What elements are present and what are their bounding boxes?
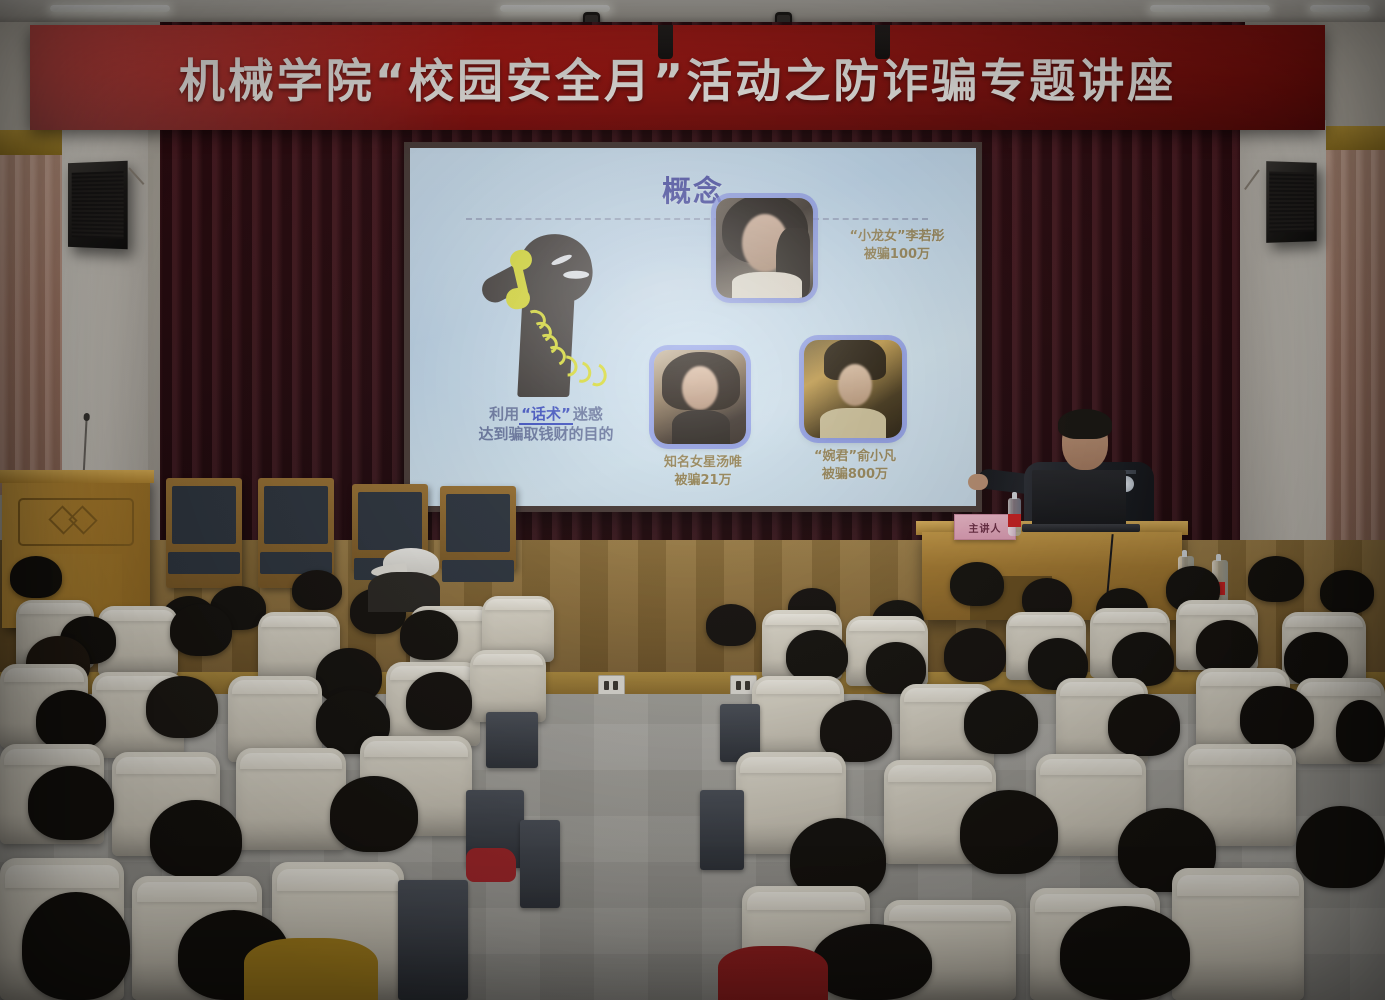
audience-head	[406, 672, 472, 730]
projection-screen: 概念	[410, 148, 976, 506]
audience-head	[706, 604, 756, 646]
audience-jacket-yellow	[244, 938, 378, 1000]
photo-tang-wei	[654, 350, 746, 444]
audience-head	[1248, 556, 1304, 602]
audience-head	[170, 604, 232, 656]
lecture-hall-photo: 机械学院“校园安全月”活动之防诈骗专题讲座 概念	[0, 0, 1385, 1000]
water-bottle	[1008, 498, 1021, 536]
slide-left-caption: 利用“话术”迷惑 达到骗取钱财的目的	[436, 404, 656, 444]
caption-highlight: “话术”	[519, 405, 573, 425]
audience-head	[36, 690, 106, 750]
wall-speaker-right	[1266, 161, 1316, 243]
caption-suffix: 迷惑	[573, 405, 603, 423]
seat-armrest	[486, 712, 538, 768]
curtain-valance-left	[0, 130, 62, 158]
photo-label-yu-xiaofan: “婉君”俞小凡 被骗800万	[782, 448, 928, 484]
ceiling-light	[1150, 5, 1270, 12]
audience-head	[1320, 570, 1374, 614]
presenter-hair	[1058, 409, 1112, 439]
audience-head	[944, 628, 1006, 682]
audience-head	[330, 776, 418, 852]
audience-head	[964, 690, 1038, 754]
ceiling-light	[50, 5, 170, 12]
label-line-1: “小龙女”李若彤	[822, 228, 972, 246]
label-line-1: “婉君”俞小凡	[782, 448, 928, 466]
seat-armrest	[520, 820, 560, 908]
audience-head	[1108, 694, 1180, 756]
slide-title: 概念	[410, 168, 976, 210]
audience-jacket-red	[718, 946, 828, 1000]
wall-speaker-left	[68, 161, 128, 250]
caption-prefix: 利用	[489, 405, 519, 423]
photo-label-tang-wei: 知名女星汤唯 被骗21万	[630, 454, 776, 490]
label-line-1: 知名女星汤唯	[630, 454, 776, 472]
audience-head	[28, 766, 114, 840]
seat-armrest	[398, 880, 468, 1000]
name-card-text: 主讲人	[969, 520, 1002, 535]
window-curtain-right	[1326, 150, 1385, 570]
photo-garment	[672, 410, 730, 444]
photo-li-ruotong	[716, 198, 813, 298]
caption-line-1: 利用“话术”迷惑	[436, 404, 656, 424]
audience-head	[812, 924, 932, 1000]
laptop-keyboard	[1022, 524, 1140, 532]
photo-face	[682, 366, 718, 410]
speaker-grille	[71, 171, 123, 238]
seat	[236, 748, 346, 850]
audience-head	[292, 570, 342, 610]
audience-head	[10, 556, 62, 598]
audience-head	[1060, 906, 1190, 1000]
label-line-2: 被骗100万	[822, 246, 972, 264]
banner-title: 机械学院“校园安全月”活动之防诈骗专题讲座	[179, 45, 1176, 111]
speaker-grille	[1269, 171, 1313, 233]
photo-garment	[820, 408, 886, 438]
ceiling-light	[500, 5, 610, 12]
red-shoe	[466, 848, 516, 882]
slide-divider	[466, 218, 928, 220]
label-line-2: 被骗21万	[630, 472, 776, 490]
audience-head	[786, 630, 848, 682]
audience-head	[1196, 620, 1258, 674]
presenter-name-card: 主讲人	[954, 514, 1016, 540]
audience-head	[1240, 686, 1314, 750]
audience-head	[146, 676, 218, 738]
audience-head	[22, 892, 130, 1000]
seat-armrest	[700, 790, 744, 870]
audience-head	[150, 800, 242, 878]
projection-screen-frame: 概念	[404, 142, 982, 512]
stage-chair	[166, 478, 242, 588]
ceiling-light	[1310, 5, 1370, 12]
audience-head	[950, 562, 1004, 606]
audience-head	[400, 610, 458, 660]
photo-face	[838, 364, 872, 406]
photo-yu-xiaofan	[804, 340, 902, 438]
audience-head	[960, 790, 1058, 874]
caption-line-2: 达到骗取钱财的目的	[436, 424, 656, 444]
scammer-eye	[563, 271, 589, 279]
audience-head	[1336, 700, 1385, 762]
photo-label-li-ruotong: “小龙女”李若彤 被骗100万	[822, 228, 972, 264]
event-banner: 机械学院“校园安全月”活动之防诈骗专题讲座	[30, 25, 1325, 130]
photo-garment	[732, 272, 802, 298]
phone-scammer-silhouette-icon	[470, 234, 615, 394]
scammer-eye	[550, 253, 573, 267]
podium-top	[0, 470, 154, 483]
window-curtain-left	[0, 155, 62, 495]
presenter-hand	[968, 474, 988, 490]
seat	[1172, 868, 1304, 1000]
audience-head	[1296, 806, 1385, 888]
stage-chair	[440, 486, 516, 570]
laptop	[1032, 470, 1126, 526]
label-line-2: 被骗800万	[782, 466, 928, 484]
